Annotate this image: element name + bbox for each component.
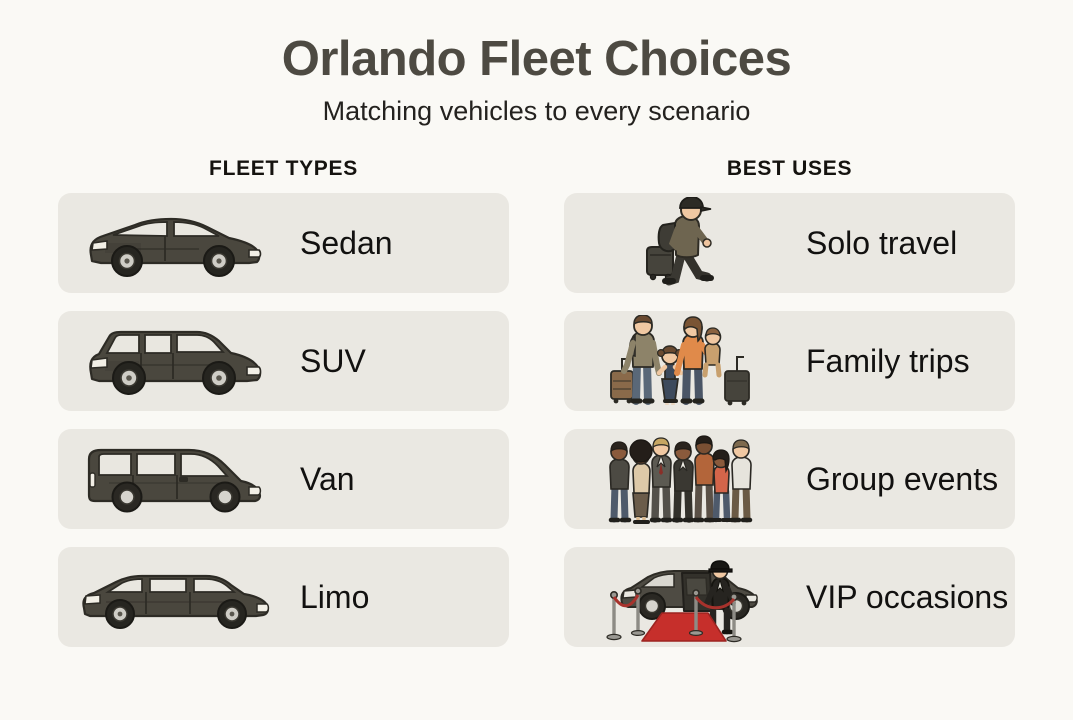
fleet-label-sedan: Sedan xyxy=(300,225,393,262)
fleet-card-van[interactable]: Van xyxy=(58,429,509,529)
column-header-best-uses: BEST USES xyxy=(564,157,1015,181)
use-card-solo-travel[interactable]: Solo travel xyxy=(564,193,1015,293)
limousine-icon xyxy=(74,549,274,645)
infographic-page: Orlando Fleet Choices Matching vehicles … xyxy=(0,0,1073,720)
fleet-label-limo: Limo xyxy=(300,579,369,616)
use-label-vip-occasions: VIP occasions xyxy=(806,579,1008,616)
sedan-car-icon xyxy=(74,195,274,291)
fleet-label-van: Van xyxy=(300,461,355,498)
column-header-fleet-types: FLEET TYPES xyxy=(58,157,509,181)
row-4: Limo xyxy=(58,547,1015,647)
fleet-label-suv: SUV xyxy=(300,343,366,380)
page-title: Orlando Fleet Choices xyxy=(0,34,1073,85)
family-group-icon xyxy=(580,313,780,409)
fleet-card-limo[interactable]: Limo xyxy=(58,547,509,647)
use-label-solo-travel: Solo travel xyxy=(806,225,957,262)
use-label-group-events: Group events xyxy=(806,461,998,498)
header: Orlando Fleet Choices Matching vehicles … xyxy=(0,0,1073,127)
people-group-icon xyxy=(580,431,780,527)
solo-traveler-icon xyxy=(580,195,780,291)
use-card-family-trips[interactable]: Family trips xyxy=(564,311,1015,411)
limo-red-carpet-icon xyxy=(580,549,780,645)
van-icon xyxy=(74,431,274,527)
use-card-vip-occasions[interactable]: VIP occasions xyxy=(564,547,1015,647)
fleet-card-sedan[interactable]: Sedan xyxy=(58,193,509,293)
fleet-card-suv[interactable]: SUV xyxy=(58,311,509,411)
row-1: Sedan xyxy=(58,193,1015,293)
row-3: Van xyxy=(58,429,1015,529)
use-label-family-trips: Family trips xyxy=(806,343,970,380)
use-card-group-events[interactable]: Group events xyxy=(564,429,1015,529)
comparison-grid: Sedan xyxy=(0,193,1073,647)
page-subtitle: Matching vehicles to every scenario xyxy=(0,97,1073,127)
suv-car-icon xyxy=(74,313,274,409)
row-2: SUV xyxy=(58,311,1015,411)
column-headers: FLEET TYPES BEST USES xyxy=(0,157,1073,181)
